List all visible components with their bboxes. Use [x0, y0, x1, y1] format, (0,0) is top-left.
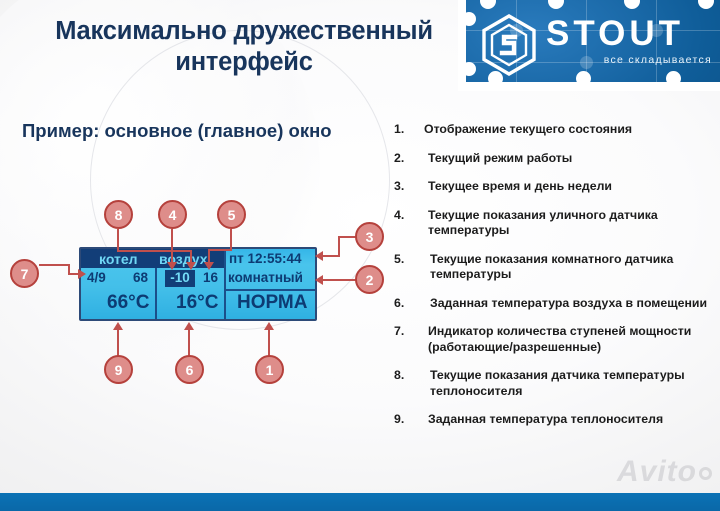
logo-text-block: STOUT все складывается	[546, 16, 714, 66]
logo-wordmark: STOUT	[546, 16, 714, 52]
callout-arrow-3	[315, 251, 323, 261]
callout-arrow-7	[78, 269, 86, 279]
callout-badge-7[interactable]: 7	[10, 259, 39, 288]
watermark-text: Avito	[617, 455, 697, 488]
legend-text: Индикатор количества ступеней мощности (…	[424, 324, 714, 355]
puzzle-knob	[698, 0, 714, 9]
callout-leader-2	[322, 279, 358, 281]
legend-list: 1. Отображение текущего состояния 2. Тек…	[394, 122, 714, 441]
lcd-clock: пт 12:55:44	[229, 251, 302, 266]
avito-watermark: Avito	[617, 455, 712, 489]
callout-label: 9	[115, 363, 123, 377]
callout-label: 4	[169, 208, 177, 222]
lcd-divider	[224, 289, 317, 291]
legend-number: 4.	[394, 208, 424, 239]
lcd-label-boiler: котел	[99, 251, 138, 267]
puzzle-knob	[480, 0, 496, 9]
lcd-status: НОРМА	[237, 292, 307, 314]
legend-text: Заданная температура теплоносителя	[424, 412, 714, 428]
slide-canvas: Максимально дружественный интерфейс	[0, 0, 720, 511]
callout-leader-8	[117, 229, 119, 251]
callout-badge-8[interactable]: 8	[104, 200, 133, 229]
callout-leader-9	[117, 330, 119, 356]
list-item: 8. Текущие показания датчика температуры…	[394, 368, 714, 399]
callout-leader-3	[322, 255, 340, 257]
callout-label: 6	[186, 363, 194, 377]
puzzle-knob	[576, 71, 591, 86]
callout-arrow-2	[315, 275, 323, 285]
legend-number: 5.	[394, 252, 424, 283]
watermark-dot-icon	[699, 467, 712, 480]
callout-label: 7	[21, 267, 29, 281]
callout-leader-3	[338, 236, 340, 256]
lcd-inner: котел воздух пт 12:55:44 4/9 68 -10 16 к…	[81, 249, 315, 319]
legend-text: Заданная температура воздуха в помещении	[424, 296, 714, 312]
callout-badge-9[interactable]: 9	[104, 355, 133, 384]
lcd-mode: комнатный	[228, 270, 303, 285]
legend-number: 7.	[394, 324, 424, 355]
callout-arrow-8	[186, 262, 196, 270]
stout-logo: STOUT все складывается	[458, 0, 720, 91]
callout-badge-6[interactable]: 6	[175, 355, 204, 384]
callout-leader-7	[39, 264, 70, 266]
section-subtitle: Пример: основное (главное) окно	[22, 120, 332, 142]
legend-text: Текущий режим работы	[424, 151, 714, 167]
legend-text: Текущие показания уличного датчика темпе…	[424, 208, 714, 239]
controller-lcd-screen[interactable]: котел воздух пт 12:55:44 4/9 68 -10 16 к…	[79, 247, 317, 321]
callout-leader-6	[188, 330, 190, 356]
puzzle-knob	[624, 0, 640, 9]
puzzle-knob	[462, 62, 476, 76]
callout-label: 3	[366, 230, 374, 244]
callout-label: 2	[366, 273, 374, 287]
callout-badge-1[interactable]: 1	[255, 355, 284, 384]
list-item: 4. Текущие показания уличного датчика те…	[394, 208, 714, 239]
lcd-boiler-temp: 66°C	[107, 292, 149, 314]
callout-badge-2[interactable]: 2	[355, 265, 384, 294]
callout-badge-4[interactable]: 4	[158, 200, 187, 229]
callout-badge-5[interactable]: 5	[217, 200, 246, 229]
puzzle-knob	[548, 0, 564, 9]
list-item: 2. Текущий режим работы	[394, 151, 714, 167]
legend-text: Текущие показания датчика температуры те…	[424, 368, 714, 399]
callout-leader-8	[117, 250, 192, 252]
callout-arrow-9	[113, 322, 123, 330]
callout-label: 1	[266, 363, 274, 377]
callout-badge-3[interactable]: 3	[355, 222, 384, 251]
list-item: 3. Текущее время и день недели	[394, 179, 714, 195]
list-item: 5. Текущие показания комнатного датчика …	[394, 252, 714, 283]
page-title: Максимально дружественный интерфейс	[18, 16, 470, 78]
lcd-boiler-setpoint: 68	[133, 270, 148, 285]
logo-tagline: все складывается	[546, 54, 714, 66]
puzzle-knob	[666, 71, 681, 86]
callout-label: 8	[115, 208, 123, 222]
legend-number: 1.	[394, 122, 424, 138]
lcd-room-setpoint: 16	[203, 270, 218, 285]
lcd-room-temp: 16°C	[176, 292, 218, 314]
list-item: 1. Отображение текущего состояния	[394, 122, 714, 138]
lcd-power-stages: 4/9	[87, 270, 106, 285]
legend-text: Отображение текущего состояния	[424, 122, 714, 138]
legend-number: 2.	[394, 151, 424, 167]
list-item: 6. Заданная температура воздуха в помеще…	[394, 296, 714, 312]
callout-leader-1	[268, 330, 270, 356]
footer-bar	[0, 493, 720, 511]
callout-arrow-5	[204, 262, 214, 270]
callout-leader-5	[230, 229, 232, 250]
callout-arrow-1	[264, 322, 274, 330]
list-item: 7. Индикатор количества ступеней мощност…	[394, 324, 714, 355]
callout-arrow-6	[184, 322, 194, 330]
lcd-divider	[224, 249, 226, 319]
stout-hexagon-s-icon	[480, 14, 538, 76]
callout-label: 5	[228, 208, 236, 222]
legend-number: 3.	[394, 179, 424, 195]
puzzle-knob	[462, 12, 476, 26]
legend-number: 6.	[394, 296, 424, 312]
callout-leader-5	[208, 249, 232, 251]
legend-number: 9.	[394, 412, 424, 428]
list-item: 9. Заданная температура теплоносителя	[394, 412, 714, 428]
lcd-outdoor-temp-selected[interactable]: -10	[165, 270, 195, 287]
callout-arrow-4	[167, 262, 177, 270]
callout-leader-4	[171, 229, 173, 264]
legend-number: 8.	[394, 368, 424, 399]
legend-text: Текущие показания комнатного датчика тем…	[424, 252, 714, 283]
legend-text: Текущее время и день недели	[424, 179, 714, 195]
lcd-divider	[155, 268, 157, 319]
